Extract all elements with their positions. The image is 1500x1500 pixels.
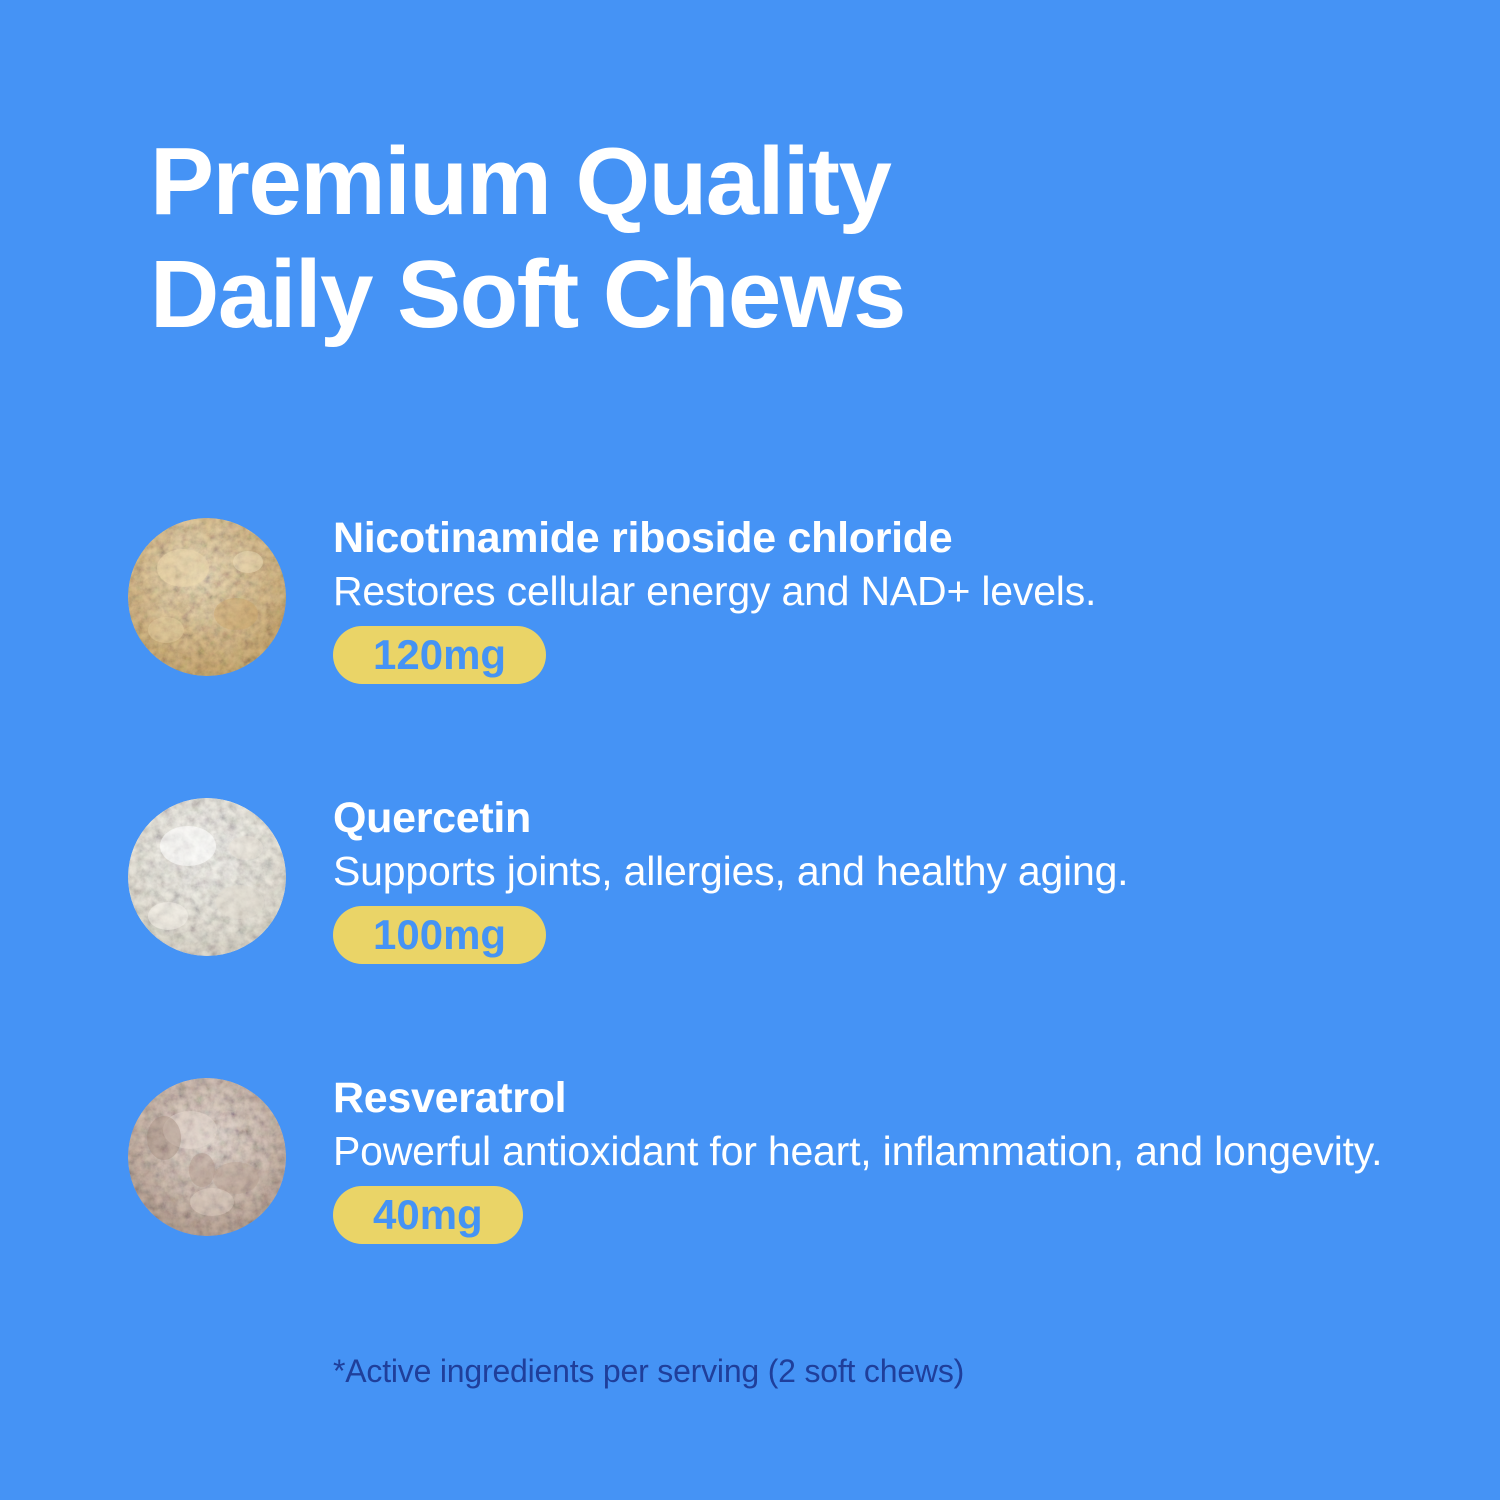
page-title-line-1: Premium Quality [150, 125, 1300, 238]
tan-powder-swatch-icon [128, 518, 286, 676]
mauve-powder-swatch-icon [128, 1078, 286, 1236]
ingredient-text-block: Resveratrol Powerful antioxidant for hea… [333, 1072, 1393, 1244]
ingredient-description: Restores cellular energy and NAD+ levels… [333, 566, 1393, 616]
white-powder-swatch-icon [128, 798, 286, 956]
ingredient-text-block: Quercetin Supports joints, allergies, an… [333, 792, 1393, 964]
ingredient-description: Powerful antioxidant for heart, inflamma… [333, 1126, 1393, 1176]
ingredient-name: Resveratrol [333, 1072, 1393, 1124]
serving-footnote: *Active ingredients per serving (2 soft … [333, 1351, 964, 1391]
ingredient-description: Supports joints, allergies, and healthy … [333, 846, 1393, 896]
product-ingredient-infographic: Premium Quality Daily Soft Chews [0, 0, 1500, 1500]
ingredient-name: Nicotinamide riboside chloride [333, 512, 1393, 564]
page-title-line-2: Daily Soft Chews [150, 238, 1300, 351]
ingredient-name: Quercetin [333, 792, 1393, 844]
ingredient-text-block: Nicotinamide riboside chloride Restores … [333, 512, 1393, 684]
page-title: Premium Quality Daily Soft Chews [150, 125, 1300, 352]
ingredient-dose-badge: 120mg [333, 626, 546, 684]
ingredient-dose-badge: 100mg [333, 906, 546, 964]
ingredient-dose-badge: 40mg [333, 1186, 523, 1244]
